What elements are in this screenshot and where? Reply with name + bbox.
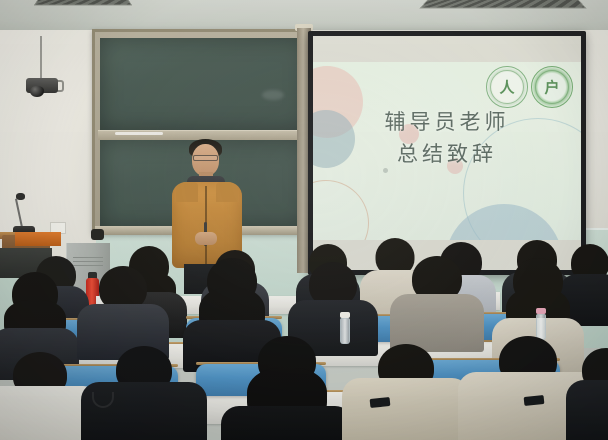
- ceiling-vent-left-icon: [34, 0, 133, 6]
- bottle-cap: [340, 312, 350, 318]
- chalkboard-panel-upper: [100, 38, 306, 130]
- lectern-microphone-icon: [16, 193, 25, 200]
- slide-title-line-1: 辅导员老师: [385, 110, 510, 134]
- student-coat: [81, 382, 207, 440]
- slide-title: 辅导员老师 总结致辞: [313, 106, 581, 170]
- list-item: [0, 352, 90, 440]
- list-item: [0, 272, 70, 364]
- camera-mount-stem: [40, 36, 42, 80]
- list-item: [576, 348, 608, 440]
- slide-content: 人 户 辅导员老师 总结致辞: [313, 62, 581, 240]
- screen-surface: 人 户 辅导员老师 总结致辞: [313, 36, 581, 270]
- slide-logo-group: 人 户: [486, 66, 573, 108]
- student-coat: [566, 380, 608, 440]
- glasses-icon: [193, 155, 218, 161]
- student-coat: [342, 378, 470, 440]
- presenter-hands: [195, 232, 217, 245]
- slide-letterbox-top: [313, 36, 581, 62]
- presenter-hood-right: [216, 182, 238, 202]
- projection-screen: 人 户 辅导员老师 总结致辞: [308, 31, 586, 275]
- list-item: [232, 336, 342, 440]
- ceiling-vent-right-icon: [420, 0, 587, 8]
- classroom-photo: 人 户 辅导员老师 总结致辞: [0, 0, 608, 440]
- emblem-glyph-right: 户: [544, 77, 559, 98]
- slide-decor-tan-ring: [313, 180, 369, 240]
- orange-equipment-box: [15, 232, 61, 246]
- institute-emblem-right-icon: 户: [531, 66, 573, 108]
- chalk-smudge: [262, 90, 284, 100]
- student-coat: [221, 406, 353, 440]
- university-emblem-left-icon: 人: [486, 66, 528, 108]
- camera-lens-icon: [30, 86, 44, 97]
- list-item: [352, 344, 460, 440]
- chalk-mark: [115, 132, 163, 135]
- slide-title-line-2: 总结致辞: [313, 138, 581, 170]
- presenter-hood-left: [176, 182, 198, 202]
- emblem-glyph-left: 人: [499, 77, 514, 98]
- chalkboard-roller-left: [91, 229, 104, 240]
- list-item: [398, 256, 476, 356]
- bottle-cap: [536, 308, 546, 314]
